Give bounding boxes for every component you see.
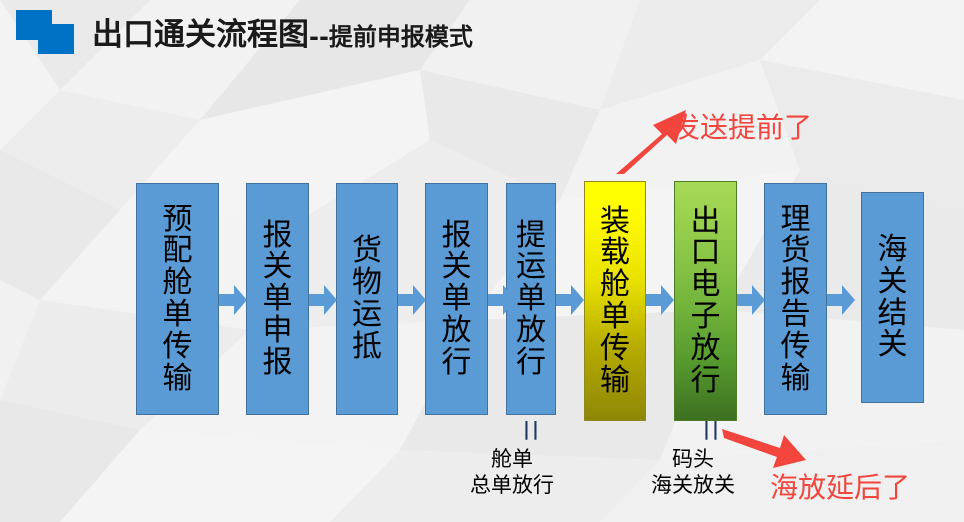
node-label-char: 电 [691,269,721,301]
node-label-char: 理 [781,204,811,236]
node-label-char: 货 [781,235,811,267]
node-label-char: 单 [163,299,193,331]
node-label-char: 运 [516,251,546,283]
equals-mark-terminal: || [703,418,721,440]
node-label-char: 提 [516,220,546,252]
caption-line: 总单放行 [452,473,572,499]
flow-arrow-8 [827,285,855,315]
flow-arrow-4 [488,285,516,315]
node-label-char: 抵 [352,331,382,363]
flow-node-customs-closing[interactable]: 海关结关 [861,192,924,403]
node-label-char: 海 [878,234,908,266]
node-label-char: 单 [600,301,630,333]
flow-node-export-e-release[interactable]: 出口电子放行 [674,181,737,421]
flow-arrow-2 [309,285,337,315]
node-label-char: 关 [878,266,908,298]
flow-node-label: 报关单放行 [442,220,472,379]
node-label-char: 输 [781,363,811,395]
flow-diagram: 预配舱单传输 报关单申报 货物运抵 报关单放行 提运单放行 装载舱单传输 出口电… [0,0,964,522]
node-label-char: 配 [163,235,193,267]
node-label-char: 装 [600,206,630,238]
node-label-char: 行 [516,347,546,379]
node-label-char: 关 [878,329,908,361]
node-label-char: 单 [516,283,546,315]
flow-node-label: 理货报告传输 [781,204,811,395]
node-label-char: 子 [691,301,721,333]
flow-arrow-6 [646,285,674,315]
caption-line: 舱单 [452,447,572,473]
page-header: 出口通关流程图--提前申报模式 [0,0,964,66]
annotation-release-later: 海放延后了 [770,466,910,506]
flow-arrow-1 [219,285,247,315]
node-label-char: 舱 [163,267,193,299]
node-label-char: 结 [878,298,908,330]
caption-line: 海关放关 [633,473,753,499]
page-title-sub: --提前申报模式 [309,23,473,51]
node-label-char: 放 [516,315,546,347]
flow-node-label: 出口电子放行 [691,206,721,397]
flow-arrow-3 [398,285,426,315]
node-label-char: 行 [442,347,472,379]
node-label-char: 预 [163,204,193,236]
node-label-char: 货 [352,235,382,267]
node-label-char: 行 [691,365,721,397]
flow-node-label: 货物运抵 [352,235,382,362]
node-label-char: 载 [600,237,630,269]
page-title-main: 出口通关流程图 [92,17,309,53]
node-label-char: 口 [691,237,721,269]
node-label-char: 申 [263,315,293,347]
node-label-char: 放 [691,333,721,365]
flow-node-label: 预配舱单传输 [163,204,193,395]
node-label-char: 报 [263,220,293,252]
flow-node-label: 报关单申报 [263,220,293,379]
page-title: 出口通关流程图--提前申报模式 [92,9,473,54]
flow-arrow-5 [556,285,584,315]
node-label-char: 单 [442,283,472,315]
equals-mark-manifest: || [523,418,541,440]
node-label-char: 报 [781,267,811,299]
node-label-char: 舱 [600,269,630,301]
flow-node-cargo-arrival[interactable]: 货物运抵 [336,183,398,415]
logo-square-bottom-right [38,24,74,54]
node-label-char: 运 [352,299,382,331]
flow-arrow-7 [737,285,765,315]
flow-node-label: 提运单放行 [516,220,546,379]
flow-node-customs-declaration[interactable]: 报关单申报 [246,183,309,415]
node-label-char: 报 [442,220,472,252]
caption-manifest: 舱单 总单放行 [452,447,572,498]
node-label-char: 报 [263,347,293,379]
node-label-char: 物 [352,267,382,299]
node-label-char: 输 [600,365,630,397]
flow-node-tally-report-transmit[interactable]: 理货报告传输 [764,183,827,415]
annotation-send-earlier: 发送提前了 [672,106,812,146]
flow-node-loading-manifest[interactable]: 装载舱单传输 [584,181,646,421]
node-label-char: 放 [442,315,472,347]
node-label-char: 传 [781,331,811,363]
flow-node-pre-manifest-transmit[interactable]: 预配舱单传输 [136,183,219,415]
logo-icon [16,10,74,56]
node-label-char: 传 [163,331,193,363]
node-label-char: 告 [781,299,811,331]
node-label-char: 传 [600,333,630,365]
node-label-char: 出 [691,206,721,238]
flow-node-label: 装载舱单传输 [600,206,630,397]
node-label-char: 关 [263,251,293,283]
node-label-char: 输 [163,363,193,395]
flow-node-label: 海关结关 [878,234,908,361]
node-label-char: 关 [442,251,472,283]
node-label-char: 单 [263,283,293,315]
flow-node-declaration-release[interactable]: 报关单放行 [425,183,488,415]
